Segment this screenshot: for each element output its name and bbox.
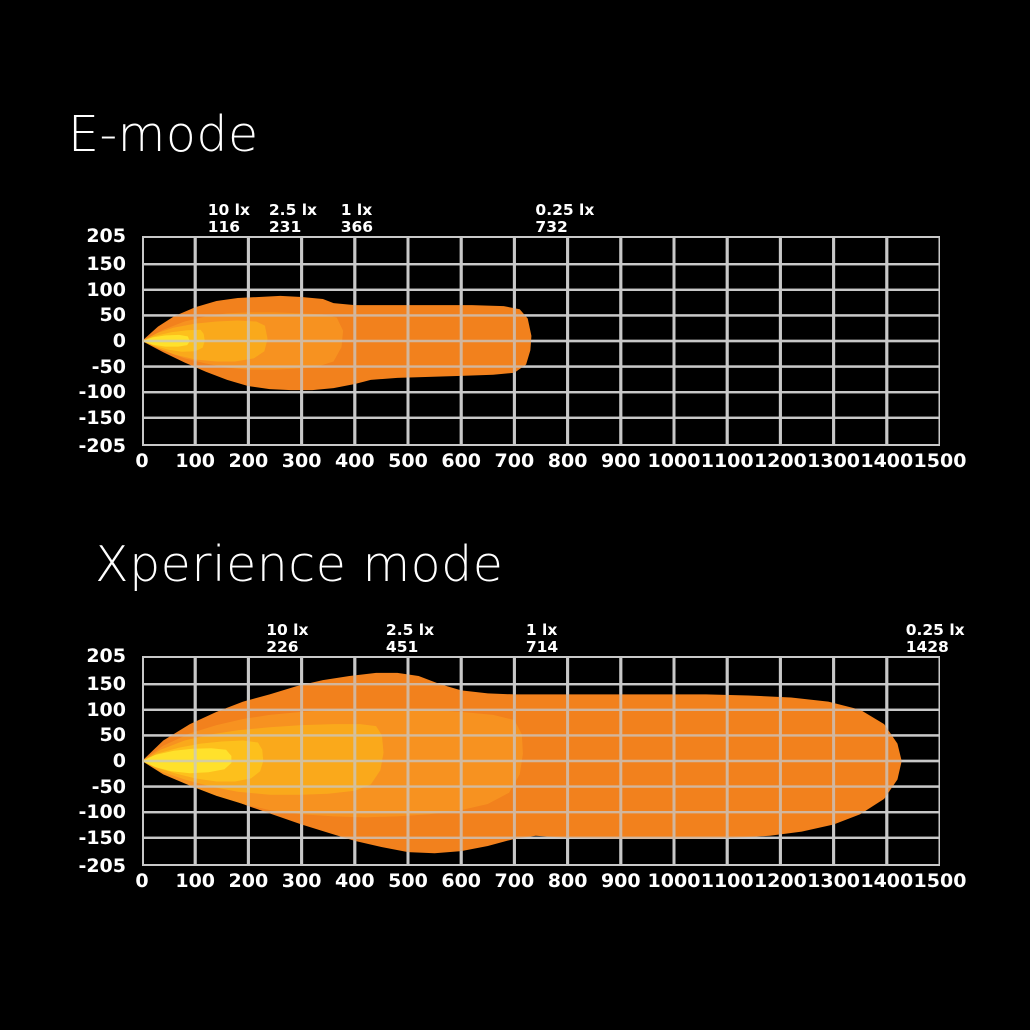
x-axis-tick-label: 1100: [701, 450, 754, 472]
y-axis-tick-label: 100: [86, 279, 126, 301]
y-axis-tick-label: 150: [86, 673, 126, 695]
y-axis-tick-label: 50: [100, 304, 126, 326]
y-axis-tick-label: -205: [78, 855, 126, 877]
x-axis-tick-label: 1200: [754, 450, 807, 472]
isolux-marker: 0.25 lx732: [535, 202, 594, 236]
isolux-markers-e-mode: 10 lx1162.5 lx2311 lx3660.25 lx732: [142, 192, 940, 236]
chart-title-xperience-mode: Xperience mode: [95, 540, 503, 589]
x-axis-tick-label: 1100: [701, 870, 754, 892]
x-axis-tick-label: 1500: [914, 450, 967, 472]
chart-xperience-mode: Xperience mode 10 lx2262.5 lx4511 lx7140…: [0, 540, 1030, 900]
isolux-distance: 732: [535, 219, 594, 236]
beam-pattern-page: E-mode 10 lx1162.5 lx2311 lx3660.25 lx73…: [0, 0, 1030, 1030]
chart-e-mode: E-mode 10 lx1162.5 lx2311 lx3660.25 lx73…: [0, 110, 1030, 470]
isolux-marker: 2.5 lx451: [386, 622, 434, 656]
isolux-marker: 2.5 lx231: [269, 202, 317, 236]
isolux-distance: 226: [266, 639, 308, 656]
isolux-distance: 714: [526, 639, 558, 656]
isolux-level: 10 lx: [266, 622, 308, 639]
x-axis-e-mode: 0100200300400500600700800900100011001200…: [142, 450, 940, 480]
x-axis-tick-label: 500: [388, 870, 428, 892]
x-axis-tick-label: 1000: [648, 870, 701, 892]
y-axis-tick-label: -100: [78, 381, 126, 403]
isolux-marker: 10 lx226: [266, 622, 308, 656]
isolux-level: 1 lx: [526, 622, 558, 639]
y-axis-tick-label: 0: [113, 330, 126, 352]
x-axis-tick-label: 100: [175, 450, 215, 472]
isolux-distance: 231: [269, 219, 317, 236]
y-axis-tick-label: -150: [78, 407, 126, 429]
x-axis-tick-label: 100: [175, 870, 215, 892]
x-axis-tick-label: 800: [548, 450, 588, 472]
x-axis-tick-label: 300: [282, 450, 322, 472]
y-axis-tick-label: 205: [86, 225, 126, 247]
grid-lines-overlay: [142, 236, 940, 446]
x-axis-tick-label: 1300: [807, 450, 860, 472]
isolux-marker: 1 lx714: [526, 622, 558, 656]
x-axis-tick-label: 900: [601, 870, 641, 892]
isolux-distance: 1428: [906, 639, 965, 656]
isolux-distance: 116: [208, 219, 250, 236]
y-axis-e-mode: 205150100500-50-100-150-205: [0, 236, 134, 446]
x-axis-tick-label: 300: [282, 870, 322, 892]
x-axis-tick-label: 1300: [807, 870, 860, 892]
isolux-marker: 1 lx366: [341, 202, 373, 236]
x-axis-tick-label: 200: [229, 870, 269, 892]
isolux-level: 2.5 lx: [386, 622, 434, 639]
beam-svg-e-mode: [142, 236, 940, 446]
x-axis-tick-label: 700: [495, 450, 535, 472]
y-axis-tick-label: -100: [78, 801, 126, 823]
y-axis-xperience-mode: 205150100500-50-100-150-205: [0, 656, 134, 866]
x-axis-tick-label: 700: [495, 870, 535, 892]
x-axis-tick-label: 1400: [860, 450, 913, 472]
plot-area-e-mode: [142, 236, 940, 446]
y-axis-tick-label: -50: [92, 356, 126, 378]
x-axis-tick-label: 0: [135, 450, 148, 472]
y-axis-tick-label: -150: [78, 827, 126, 849]
x-axis-tick-label: 1000: [648, 450, 701, 472]
isolux-distance: 451: [386, 639, 434, 656]
isolux-level: 10 lx: [208, 202, 250, 219]
x-axis-tick-label: 0: [135, 870, 148, 892]
x-axis-tick-label: 1500: [914, 870, 967, 892]
chart-title-e-mode: E-mode: [68, 110, 259, 159]
plot-area-xperience-mode: [142, 656, 940, 866]
x-axis-tick-label: 800: [548, 870, 588, 892]
x-axis-tick-label: 900: [601, 450, 641, 472]
x-axis-tick-label: 200: [229, 450, 269, 472]
isolux-distance: 366: [341, 219, 373, 236]
y-axis-tick-label: 205: [86, 645, 126, 667]
x-axis-tick-label: 400: [335, 450, 375, 472]
isolux-level: 0.25 lx: [906, 622, 965, 639]
beam-svg-xperience-mode: [142, 656, 940, 866]
isolux-level: 2.5 lx: [269, 202, 317, 219]
y-axis-tick-label: 150: [86, 253, 126, 275]
y-axis-tick-label: 50: [100, 724, 126, 746]
y-axis-tick-label: 100: [86, 699, 126, 721]
isolux-marker: 10 lx116: [208, 202, 250, 236]
y-axis-tick-label: -50: [92, 776, 126, 798]
x-axis-tick-label: 600: [441, 450, 481, 472]
y-axis-tick-label: -205: [78, 435, 126, 457]
x-axis-xperience-mode: 0100200300400500600700800900100011001200…: [142, 870, 940, 900]
y-axis-tick-label: 0: [113, 750, 126, 772]
isolux-marker: 0.25 lx1428: [906, 622, 965, 656]
x-axis-tick-label: 500: [388, 450, 428, 472]
x-axis-tick-label: 400: [335, 870, 375, 892]
isolux-level: 0.25 lx: [535, 202, 594, 219]
isolux-level: 1 lx: [341, 202, 373, 219]
x-axis-tick-label: 1400: [860, 870, 913, 892]
isolux-markers-xperience-mode: 10 lx2262.5 lx4511 lx7140.25 lx1428: [142, 612, 940, 656]
x-axis-tick-label: 600: [441, 870, 481, 892]
x-axis-tick-label: 1200: [754, 870, 807, 892]
